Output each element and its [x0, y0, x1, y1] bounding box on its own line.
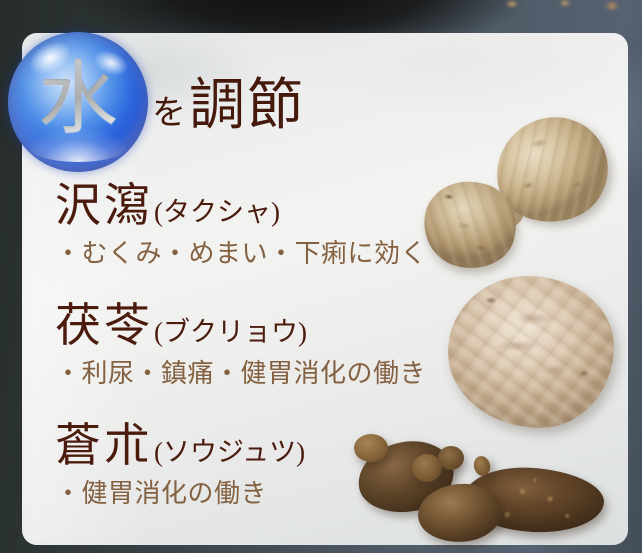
herb-name-kanji: 茯苓 [55, 302, 153, 350]
herb-name-reading: (ブクリョウ) [154, 319, 307, 346]
title-particle: を [152, 97, 187, 131]
backdrop-herb-specks [0, 0, 642, 34]
bukuryou-body [448, 276, 614, 428]
herb-description: ・むくみ・めまい・下痢に効く [55, 238, 427, 271]
herb-heading: 茯苓 (ブクリョウ) [55, 302, 426, 350]
herb-name-kanji: 沢瀉 [55, 182, 153, 230]
herb-entry-takusha: 沢瀉 (タクシャ) ・むくみ・めまい・下痢に効く [55, 182, 427, 271]
herb-name-reading: (タクシャ) [154, 199, 280, 226]
herb-description: ・利尿・鎮痛・健胃消化の働き [55, 358, 426, 391]
soujutsu-knob-c [438, 446, 464, 470]
water-orb: 水 [8, 32, 148, 172]
herb-name-kanji: 蒼朮 [55, 422, 153, 470]
herb-heading: 沢瀉 (タクシャ) [55, 182, 427, 230]
bukuryou-texture [448, 276, 614, 428]
herb-entry-soujutsu: 蒼朮 (ソウジュツ) ・健胃消化の働き [55, 422, 305, 511]
title-row: 水 を 調節 [0, 32, 400, 142]
takusha-herb-photo [424, 112, 638, 272]
herb-description: ・健胃消化の働き [55, 478, 305, 511]
title-main: 調節 [189, 78, 305, 134]
soujutsu-knob-a [354, 434, 388, 462]
herb-heading: 蒼朮 (ソウジュツ) [55, 422, 305, 470]
page-title: を 調節 [152, 78, 305, 134]
herb-name-reading: (ソウジュツ) [154, 439, 305, 466]
orb-character: 水 [8, 32, 148, 172]
infographic-card: 水 を 調節 沢瀉 (タクシャ) ・むくみ・めまい・下痢に効く 茯苓 (ブクリョ… [0, 0, 642, 553]
herb-entry-bukuryou: 茯苓 (ブクリョウ) ・利尿・鎮痛・健胃消化の働き [55, 302, 426, 391]
soujutsu-herb-photo [352, 432, 610, 550]
bukuryou-herb-photo [448, 276, 614, 428]
